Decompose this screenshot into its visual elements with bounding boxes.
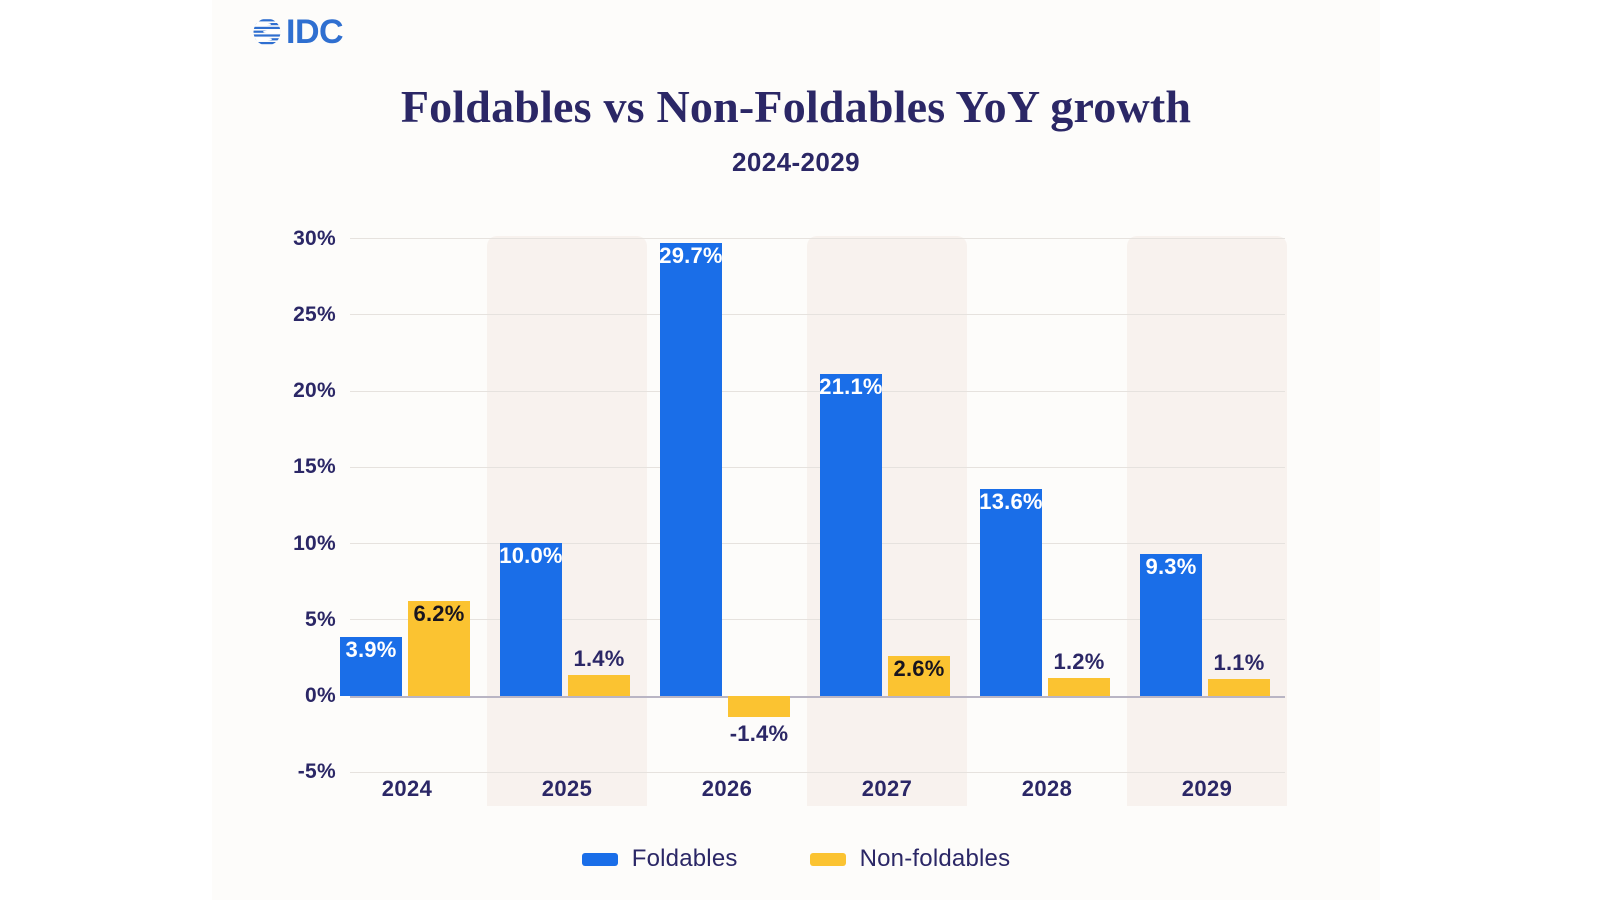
legend-item-non-foldables[interactable]: Non-foldables	[810, 845, 1011, 873]
page-title: Foldables vs Non-Foldables YoY growth	[212, 80, 1380, 133]
x-tick-2027: 2027	[797, 776, 977, 802]
legend-label-non-foldables: Non-foldables	[860, 845, 1011, 873]
x-tick-2026: 2026	[637, 776, 817, 802]
bar-label-non-foldables-2024: 6.2%	[369, 601, 509, 627]
x-tick-2025: 2025	[477, 776, 657, 802]
bar-label-foldables-2029: 9.3%	[1101, 554, 1241, 580]
bar-label-non-foldables-2028: 1.2%	[1009, 649, 1149, 675]
logo-wordmark: IDC	[286, 15, 343, 49]
globe-icon	[250, 15, 284, 49]
x-tick-2024: 2024	[317, 776, 497, 802]
bar-label-foldables-2025: 10.0%	[461, 543, 601, 569]
bar-label-non-foldables-2026: -1.4%	[689, 721, 829, 747]
bar-group-2025: 10.0% 1.4%	[510, 238, 670, 772]
bar-label-non-foldables-2025: 1.4%	[529, 646, 669, 672]
legend-label-foldables: Foldables	[632, 845, 738, 873]
bar-non-foldables-2025[interactable]	[568, 675, 630, 696]
bar-group-2026: 29.7% -1.4%	[670, 238, 830, 772]
bar-non-foldables-2028[interactable]	[1048, 678, 1110, 696]
bar-foldables-2027[interactable]	[820, 374, 882, 696]
plot-area: 3.9% 6.2% 10.0% 1.4% 29.7% -1.4% 21.1% 2…	[350, 238, 1285, 772]
chart-legend: Foldables Non-foldables	[212, 845, 1380, 873]
bar-label-foldables-2028: 13.6%	[941, 489, 1081, 515]
bar-label-non-foldables-2029: 1.1%	[1169, 650, 1309, 676]
bar-label-foldables-2027: 21.1%	[781, 374, 921, 400]
legend-item-foldables[interactable]: Foldables	[582, 845, 738, 873]
idc-logo: IDC	[250, 12, 343, 52]
x-tick-2029: 2029	[1117, 776, 1297, 802]
gridline-neg5	[350, 772, 1285, 773]
bar-label-non-foldables-2027: 2.6%	[849, 656, 989, 682]
legend-swatch-non-foldables-icon	[810, 853, 846, 866]
bar-group-2028: 13.6% 1.2%	[990, 238, 1150, 772]
legend-swatch-foldables-icon	[582, 853, 618, 866]
x-tick-2028: 2028	[957, 776, 1137, 802]
bar-group-2029: 9.3% 1.1%	[1150, 238, 1310, 772]
bar-foldables-2026[interactable]	[660, 243, 722, 696]
bar-non-foldables-2026[interactable]	[728, 696, 790, 717]
chart-page: IDC Foldables vs Non-Foldables YoY growt…	[0, 0, 1600, 900]
bar-non-foldables-2029[interactable]	[1208, 679, 1270, 696]
bar-label-foldables-2026: 29.7%	[621, 243, 761, 269]
bar-group-2024: 3.9% 6.2%	[350, 238, 510, 772]
page-subtitle: 2024-2029	[212, 147, 1380, 178]
